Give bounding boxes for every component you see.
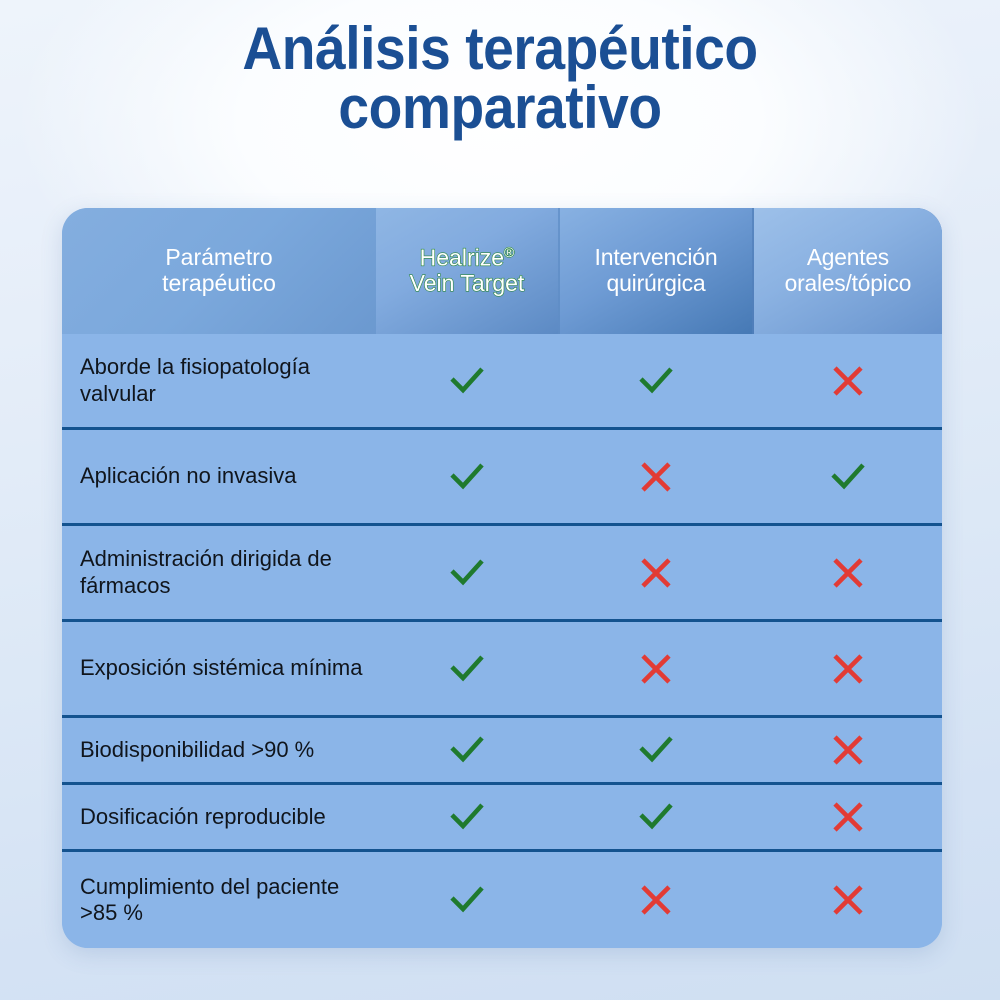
cell-mark-healrize (376, 852, 558, 948)
cell-parameter-label: Cumplimiento del paciente >85 % (80, 852, 380, 948)
cell-mark-healrize (376, 718, 558, 782)
check-icon (445, 647, 489, 691)
cell-mark-oral (754, 785, 942, 849)
check-icon (445, 878, 489, 922)
cross-icon (634, 551, 678, 595)
check-icon (445, 359, 489, 403)
page-title: Análisis terapéutico comparativo (40, 20, 960, 138)
table-header-row: Parámetroterapéutico Healrize®Vein Targe… (62, 208, 942, 334)
cross-icon (826, 728, 870, 772)
table-body: Aborde la fisiopatología valvularAplicac… (62, 334, 942, 948)
page-title-line-2: comparativo (40, 79, 960, 138)
cell-parameter-label: Administración dirigida de fármacos (80, 526, 380, 619)
cross-icon (634, 455, 678, 499)
table-row: Dosificación reproducible (62, 785, 942, 852)
cell-parameter-label: Aplicación no invasiva (80, 430, 380, 523)
cell-mark-surgery (560, 852, 752, 948)
cross-icon (634, 878, 678, 922)
cell-mark-healrize (376, 622, 558, 715)
cross-icon (826, 795, 870, 839)
cross-icon (826, 647, 870, 691)
check-icon (826, 455, 870, 499)
table-row: Aborde la fisiopatología valvular (62, 334, 942, 430)
cell-mark-surgery (560, 622, 752, 715)
column-header-oral: Agentesorales/tópico (754, 208, 942, 334)
cross-icon (826, 551, 870, 595)
column-header-label: Intervenciónquirúrgica (595, 245, 718, 297)
cell-mark-surgery (560, 785, 752, 849)
check-icon (445, 551, 489, 595)
cell-mark-surgery (560, 718, 752, 782)
cell-mark-oral (754, 852, 942, 948)
check-icon (634, 728, 678, 772)
check-icon (634, 359, 678, 403)
table-row: Administración dirigida de fármacos (62, 526, 942, 622)
table-row: Biodisponibilidad >90 % (62, 718, 942, 785)
column-header-surgery: Intervenciónquirúrgica (560, 208, 752, 334)
cross-icon (826, 878, 870, 922)
check-icon (445, 795, 489, 839)
cell-parameter-label: Aborde la fisiopatología valvular (80, 334, 380, 427)
check-icon (445, 455, 489, 499)
column-header-label: Healrize®Vein Target (410, 245, 525, 297)
cell-parameter-label: Biodisponibilidad >90 % (80, 718, 380, 782)
cell-parameter-label: Exposición sistémica mínima (80, 622, 380, 715)
cross-icon (826, 359, 870, 403)
page-title-line-1: Análisis terapéutico (242, 15, 757, 82)
column-header-label: Parámetroterapéutico (162, 245, 276, 297)
column-header-healrize: Healrize®Vein Target (376, 208, 558, 334)
cell-parameter-label: Dosificación reproducible (80, 785, 380, 849)
cell-mark-surgery (560, 334, 752, 427)
table-row: Exposición sistémica mínima (62, 622, 942, 718)
check-icon (445, 728, 489, 772)
comparison-infographic: Análisis terapéutico comparativo Parámet… (0, 0, 1000, 1000)
column-header-param: Parámetroterapéutico (62, 208, 376, 334)
cell-mark-oral (754, 430, 942, 523)
table-row: Aplicación no invasiva (62, 430, 942, 526)
column-header-label: Agentesorales/tópico (785, 245, 912, 297)
comparison-table: Parámetroterapéutico Healrize®Vein Targe… (62, 208, 942, 948)
cell-mark-healrize (376, 430, 558, 523)
cell-mark-oral (754, 622, 942, 715)
cross-icon (634, 647, 678, 691)
cell-mark-oral (754, 718, 942, 782)
cell-mark-oral (754, 526, 942, 619)
cell-mark-healrize (376, 526, 558, 619)
cell-mark-healrize (376, 334, 558, 427)
cell-mark-surgery (560, 430, 752, 523)
cell-mark-oral (754, 334, 942, 427)
table-row: Cumplimiento del paciente >85 % (62, 852, 942, 948)
cell-mark-surgery (560, 526, 752, 619)
check-icon (634, 795, 678, 839)
cell-mark-healrize (376, 785, 558, 849)
